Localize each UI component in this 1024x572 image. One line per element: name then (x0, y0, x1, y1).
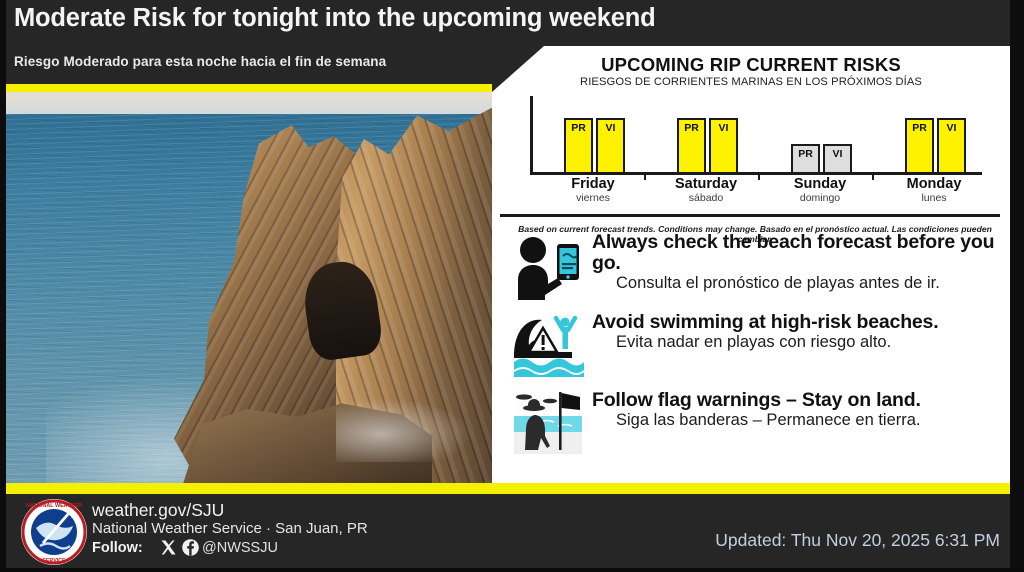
safety-tip-1: Always check the beach forecast before y… (506, 232, 1006, 304)
day-label-monday: Monday lunes (874, 176, 994, 204)
bar-friday-vi: VI (596, 118, 625, 174)
coastal-photo (6, 92, 492, 483)
updated-timestamp: Updated: Thu Nov 20, 2025 6:31 PM (715, 530, 1000, 551)
safety-tip-1-text-en: Always check the beach forecast before y… (592, 232, 1004, 274)
beach-flag-warning-icon (512, 388, 584, 454)
bar-sunday-vi: VI (823, 144, 852, 174)
chart-y-axis (530, 96, 533, 174)
chart-subtitle-spanish: RIESGOS DE CORRIENTES MARINAS EN LOS PRÓ… (492, 76, 1010, 88)
facebook-icon[interactable] (182, 539, 199, 556)
panel-divider (500, 214, 1000, 217)
bar-group-friday: PR VI (564, 118, 625, 174)
safety-tip-1-text-es: Consulta el pronóstico de playas antes d… (616, 274, 1016, 293)
bar-monday-pr: PR (905, 118, 934, 174)
bar-saturday-vi: VI (709, 118, 738, 174)
yellow-stripe-bottom-right (492, 483, 1010, 494)
chart-title: UPCOMING RIP CURRENT RISKS (492, 54, 1010, 76)
bar-monday-vi: VI (937, 118, 966, 174)
yellow-stripe-bottom-left (6, 483, 492, 494)
frame-edge-right (1010, 0, 1024, 572)
safety-tip-3-text-es: Siga las banderas – Permanece en tierra. (616, 411, 1016, 430)
frame-edge-bottom (0, 568, 1024, 572)
page-title: Moderate Risk for tonight into the upcom… (14, 2, 774, 34)
bar-sunday-pr: PR (791, 144, 820, 174)
safety-tip-2: Avoid swimming at high-risk beaches. Evi… (506, 310, 1006, 382)
safety-tip-3: Follow flag warnings – Stay on land. Sig… (506, 386, 1006, 458)
rip-current-risk-chart: PR VI Friday viernes PR VI Saturday sába… (522, 96, 990, 208)
bar-group-monday: PR VI (905, 118, 966, 174)
footer-follow-label: Follow: (92, 540, 143, 556)
svg-text:NATIONAL WEATHER: NATIONAL WEATHER (26, 503, 82, 509)
safety-tip-3-text-en: Follow flag warnings – Stay on land. (592, 390, 1004, 411)
photo-sea-spray (336, 392, 486, 462)
day-label-sunday: Sunday domingo (760, 176, 880, 204)
x-twitter-icon[interactable] (160, 539, 177, 556)
day-label-friday: Friday viernes (533, 176, 653, 204)
footer-office: National Weather Service · San Juan, PR (92, 520, 368, 537)
bar-friday-pr: PR (564, 118, 593, 174)
frame-edge-left (0, 0, 6, 572)
footer-website[interactable]: weather.gov/SJU (92, 500, 224, 521)
nws-logo: NATIONAL WEATHER SERVICE (20, 498, 88, 566)
day-label-saturday: Saturday sábado (646, 176, 766, 204)
svg-text:SERVICE: SERVICE (42, 558, 66, 564)
bar-group-saturday: PR VI (677, 118, 738, 174)
safety-tip-2-text-es: Evita nadar en playas con riesgo alto. (616, 333, 1016, 352)
bar-saturday-pr: PR (677, 118, 706, 174)
wave-warning-swimmer-icon (512, 312, 584, 378)
safety-tip-2-text-en: Avoid swimming at high-risk beaches. (592, 312, 1004, 333)
footer-handle[interactable]: @NWSSJU (202, 540, 278, 556)
bar-group-sunday: PR VI (791, 144, 852, 174)
infographic-root: Moderate Risk for tonight into the upcom… (0, 0, 1024, 572)
footer-bar: NATIONAL WEATHER SERVICE weather.gov/SJU… (0, 494, 1024, 572)
yellow-stripe-top (6, 84, 492, 92)
info-panel: UPCOMING RIP CURRENT RISKS RIESGOS DE CO… (492, 46, 1010, 483)
person-checking-phone-icon (512, 234, 584, 300)
